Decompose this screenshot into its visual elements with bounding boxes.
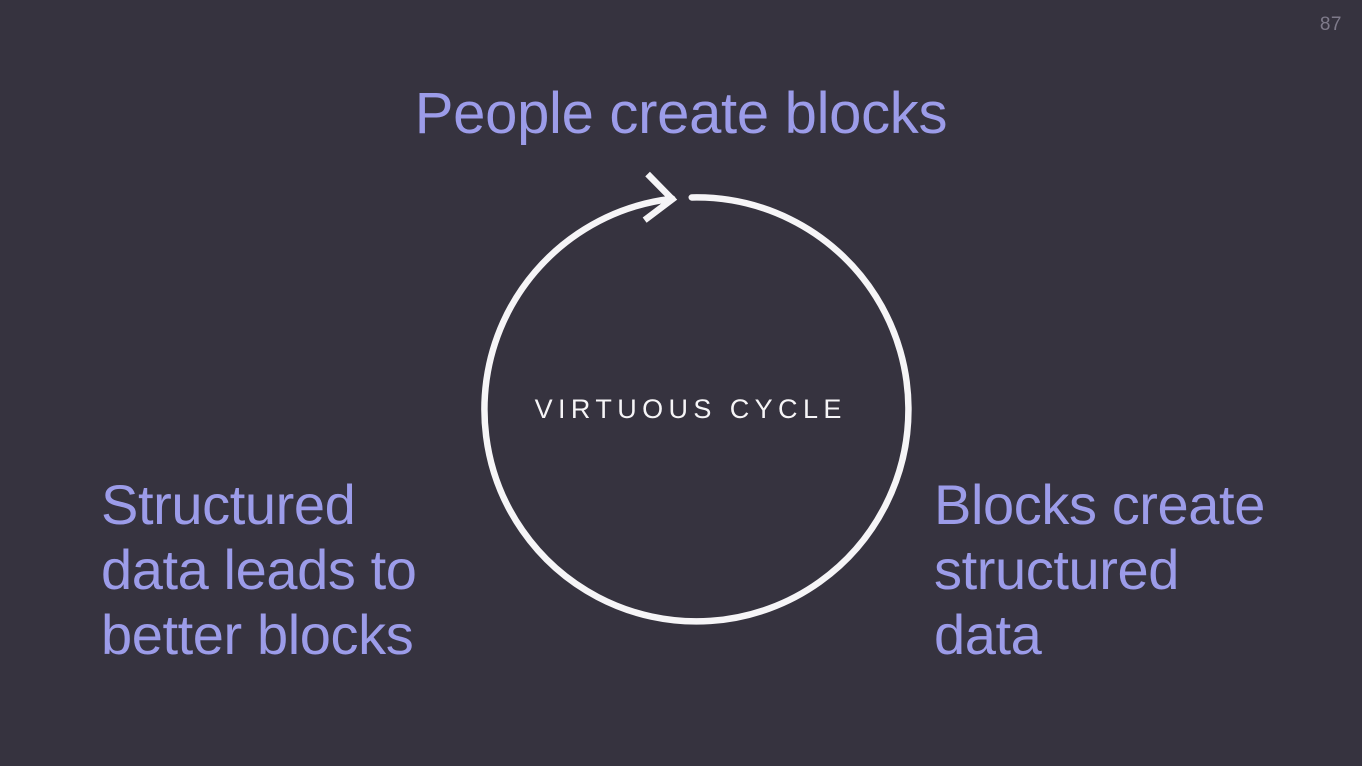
virtuous-cycle-diagram: VIRTUOUS CYCLE bbox=[455, 178, 921, 644]
label-left-line-1: Structured bbox=[101, 472, 521, 537]
label-right-line-2: structured bbox=[934, 537, 1354, 602]
cycle-center-label: VIRTUOUS CYCLE bbox=[455, 394, 921, 425]
label-right-line-3: data bbox=[934, 602, 1354, 667]
label-left-line-3: better blocks bbox=[101, 602, 521, 667]
page-number: 87 bbox=[1320, 14, 1342, 36]
label-left-structured-data: Structured data leads to better blocks bbox=[101, 472, 521, 667]
slide-canvas: 87 People create blocks VIRTUOUS CYCLE S… bbox=[0, 0, 1362, 766]
label-right-blocks-create: Blocks create structured data bbox=[934, 472, 1354, 667]
heading-people-create-blocks: People create blocks bbox=[0, 80, 1362, 148]
label-left-line-2: data leads to bbox=[101, 537, 521, 602]
label-right-line-1: Blocks create bbox=[934, 472, 1354, 537]
